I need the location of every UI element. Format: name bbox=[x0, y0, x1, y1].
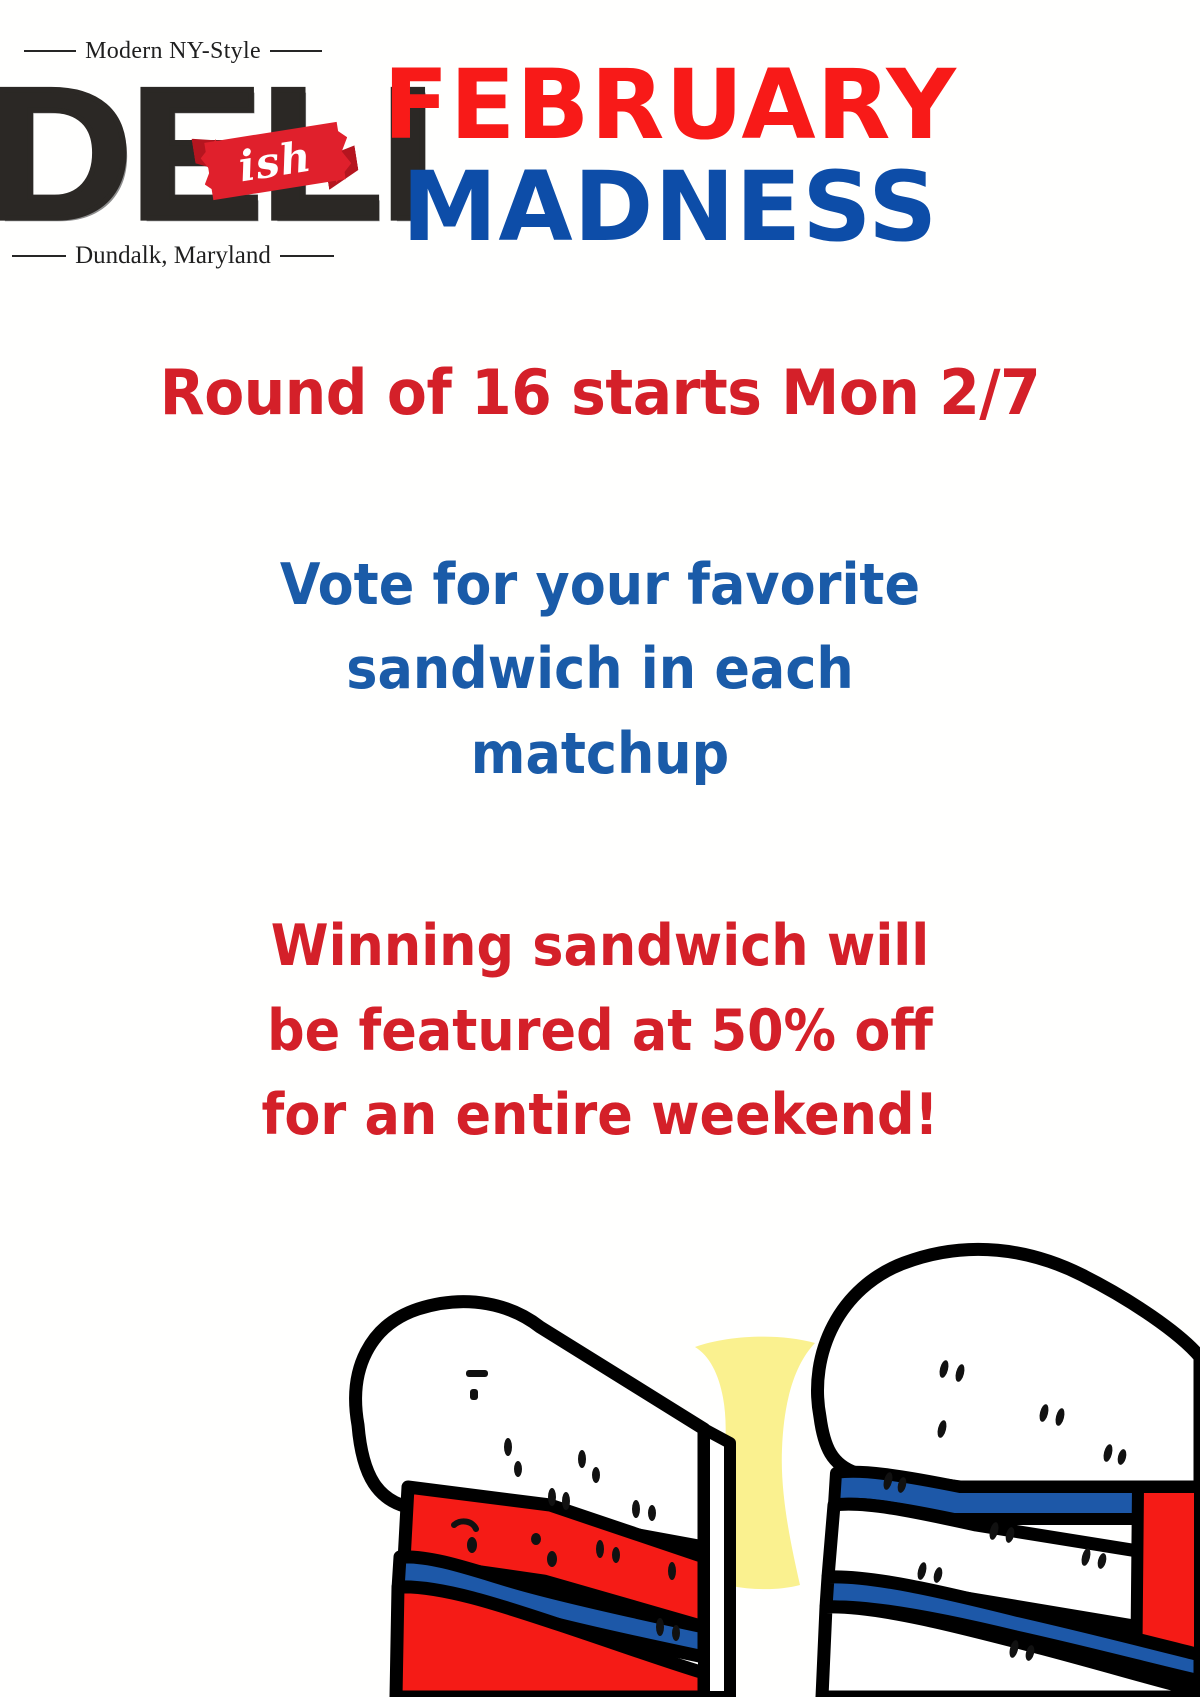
deli-ish-logo: Modern NY-Style DELI ish Dundalk, Maryla… bbox=[8, 36, 338, 296]
logo-wordmark-wrap: DELI ish bbox=[8, 64, 338, 244]
sandwich-halves-svg bbox=[300, 1157, 1200, 1697]
vote-line-1: Vote for your favorite bbox=[48, 543, 1152, 627]
sandwich-left bbox=[356, 1302, 730, 1697]
prize-line-2: be featured at 50% off bbox=[48, 989, 1152, 1073]
ribbon-label: ish bbox=[194, 120, 355, 201]
poster-title: FEBRUARY MADNESS bbox=[360, 58, 980, 254]
prize-line-1: Winning sandwich will bbox=[48, 904, 1152, 988]
vote-instructions: Vote for your favorite sandwich in each … bbox=[48, 543, 1152, 796]
poster-header: Modern NY-Style DELI ish Dundalk, Maryla… bbox=[0, 0, 1200, 320]
sandwich-right bbox=[818, 1249, 1200, 1697]
vote-line-3: matchup bbox=[48, 712, 1152, 796]
left-bread-side-body bbox=[704, 1429, 730, 1697]
title-line-madness: MADNESS bbox=[360, 160, 980, 254]
poster-copy: Round of 16 starts Mon 2/7 Vote for your… bbox=[0, 360, 1200, 1157]
prize-details: Winning sandwich will be featured at 50%… bbox=[48, 904, 1152, 1157]
vote-line-2: sandwich in each bbox=[48, 627, 1152, 711]
prize-line-3: for an entire weekend! bbox=[48, 1073, 1152, 1157]
sandwich-illustration bbox=[300, 1157, 1200, 1697]
right-bread-top bbox=[818, 1249, 1200, 1487]
round-start-headline: Round of 16 starts Mon 2/7 bbox=[36, 360, 1164, 425]
title-line-february: FEBRUARY bbox=[360, 58, 980, 152]
